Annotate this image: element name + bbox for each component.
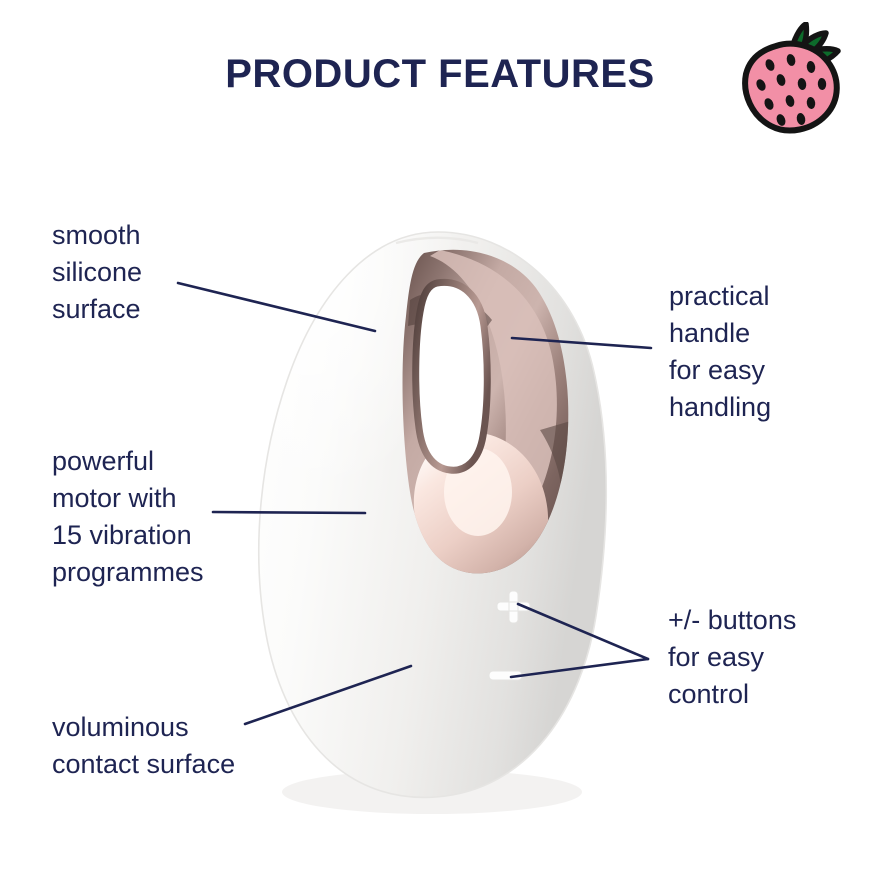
callout-voluminous-contact-surface: voluminous contact surface — [52, 709, 235, 783]
leader-line-motor — [213, 512, 365, 513]
callout-plus-minus-buttons: +/- buttons for easy control — [668, 602, 796, 713]
callout-practical-handle: practical handle for easy handling — [669, 278, 771, 426]
callout-smooth-silicone-surface: smooth silicone surface — [52, 217, 142, 328]
callout-powerful-motor: powerful motor with 15 vibration program… — [52, 443, 204, 591]
product-features-infographic: PRODUCT FEATURES — [0, 0, 880, 880]
